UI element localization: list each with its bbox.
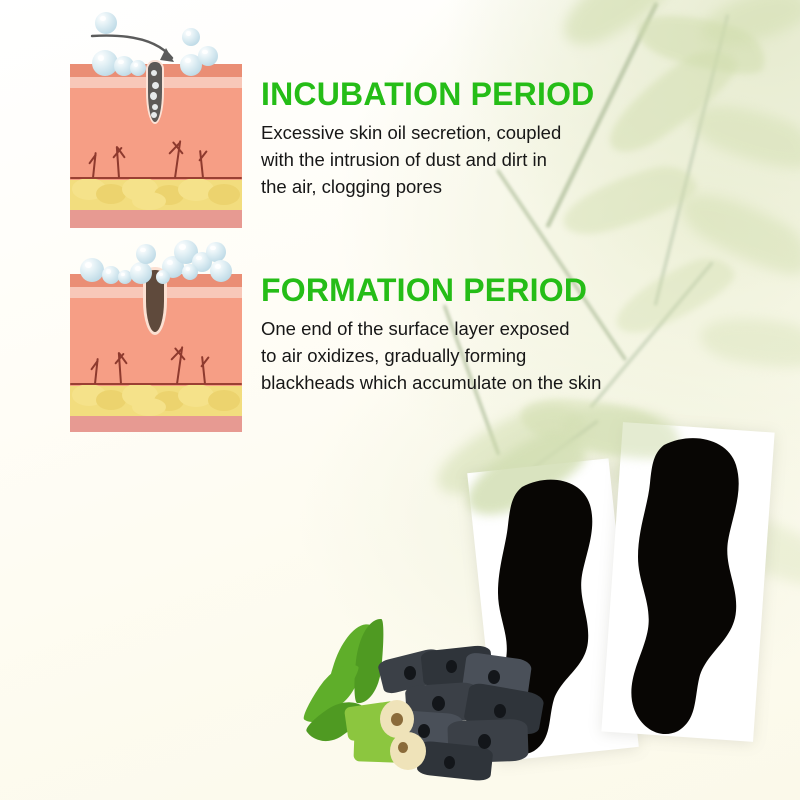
bubble (210, 260, 232, 282)
fat-lobule (208, 184, 240, 205)
blood-vessel (70, 177, 242, 179)
bubble (156, 270, 170, 284)
charcoal-hole (404, 666, 416, 680)
fat-lobule (208, 390, 240, 411)
charcoal-hole (432, 696, 445, 711)
fat-lobule (132, 192, 166, 210)
bamboo-cut-end (390, 732, 426, 770)
bubble (206, 242, 226, 262)
muscle-layer (70, 416, 242, 432)
charcoal-hole (478, 734, 491, 749)
muscle-layer (70, 210, 242, 228)
body-line: blackheads which accumulate on the skin (261, 369, 701, 396)
section-incubation-text: INCUBATION PERIOD Excessive skin oil sec… (261, 78, 681, 200)
diagram-incubation (70, 6, 242, 228)
bubble (182, 264, 198, 280)
body-line: to air oxidizes, gradually forming (261, 342, 701, 369)
flow-arrow-icon (90, 24, 200, 74)
bamboo-hollow-core (398, 742, 408, 753)
body-incubation: Excessive skin oil secretion, coupled wi… (261, 119, 681, 201)
charcoal-hole (446, 660, 457, 673)
heading-formation: FORMATION PERIOD (261, 274, 701, 308)
leaf-shadow (696, 306, 800, 378)
bubble (80, 258, 104, 282)
charcoal-hole (488, 670, 500, 684)
body-line: with the intrusion of dust and dirt in (261, 146, 681, 173)
charcoal-hole (444, 756, 455, 769)
charcoal-hole (494, 704, 506, 718)
oil-droplet (152, 104, 158, 110)
leaf-shadow (550, 0, 681, 55)
bubble (136, 244, 156, 264)
leaf-shadow (685, 88, 800, 182)
body-line: Excessive skin oil secretion, coupled (261, 119, 681, 146)
oil-droplet (150, 92, 157, 100)
bamboo-hollow-core (391, 713, 403, 726)
section-formation-text: FORMATION PERIOD One end of the surface … (261, 274, 701, 396)
heading-incubation: INCUBATION PERIOD (261, 78, 681, 112)
leaf-shadow (672, 174, 800, 289)
bubble (130, 262, 152, 284)
oil-droplet (151, 112, 157, 118)
nose-strip-right (610, 431, 780, 741)
oil-droplet (152, 82, 159, 89)
body-line: the air, clogging pores (261, 173, 681, 200)
leaf-shadow (632, 0, 773, 87)
skin-cross-section (70, 274, 242, 432)
skin-cross-section (70, 64, 242, 228)
fat-lobule (132, 398, 166, 416)
leaf-shadow (696, 0, 800, 51)
infographic-page: INCUBATION PERIOD Excessive skin oil sec… (0, 0, 800, 800)
bamboo-charcoal-pile (318, 612, 568, 800)
body-formation: One end of the surface layer exposed to … (261, 315, 701, 397)
bubble (198, 46, 218, 66)
body-line: One end of the surface layer exposed (261, 315, 701, 342)
diagram-formation (70, 236, 242, 432)
